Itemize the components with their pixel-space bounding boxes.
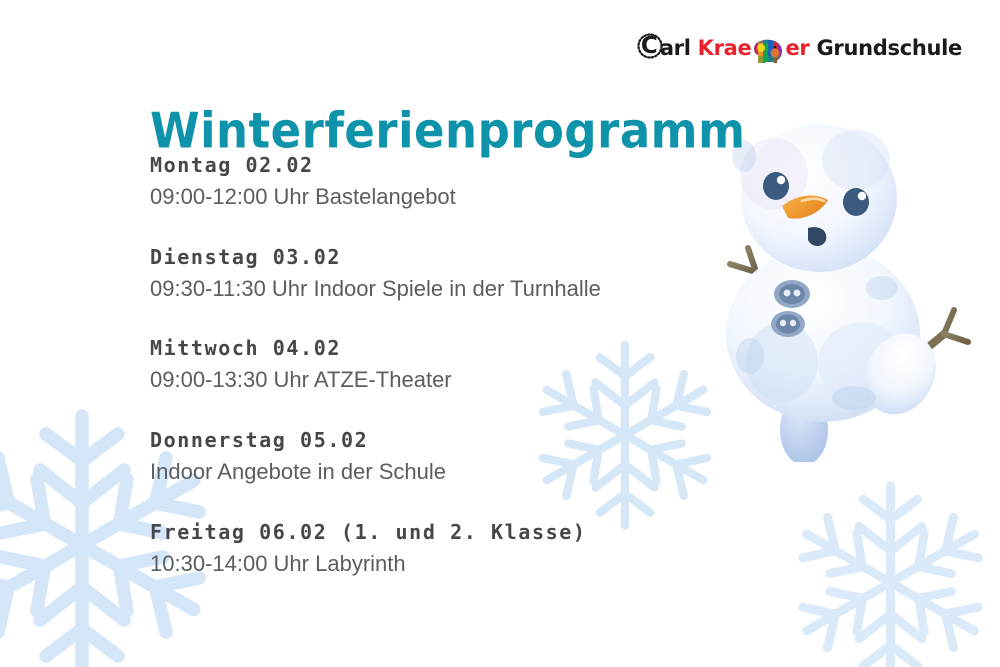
logo-initial-c: C bbox=[638, 32, 660, 64]
logo-text-grundschule: Grundschule bbox=[816, 35, 962, 61]
schedule-day-detail: 09:30-11:30 Uhr Indoor Spiele in der Tur… bbox=[150, 274, 601, 304]
logo-text-krae: Krae bbox=[698, 35, 752, 61]
snowman-illustration bbox=[686, 112, 990, 462]
poster-canvas: C arl Krae bbox=[0, 0, 1000, 667]
schedule-entry: Donnerstag 05.02 Indoor Angebote in der … bbox=[150, 427, 601, 487]
schedule-day-label: Montag 02.02 bbox=[150, 152, 601, 179]
elephant-icon bbox=[751, 36, 785, 66]
logo-letter-c: C bbox=[641, 33, 658, 59]
schedule-day-detail: 09:00-12:00 Uhr Bastelangebot bbox=[150, 182, 601, 212]
logo-text-er: er bbox=[785, 35, 809, 61]
schedule-day-detail: 10:30-14:00 Uhr Labyrinth bbox=[150, 549, 601, 579]
snowflake-icon-right bbox=[778, 470, 1000, 667]
schedule-day-detail: Indoor Angebote in der Schule bbox=[150, 457, 601, 487]
schedule-day-label: Mittwoch 04.02 bbox=[150, 335, 601, 362]
schedule-day-label: Dienstag 03.02 bbox=[150, 244, 601, 271]
schedule-list: Montag 02.02 09:00-12:00 Uhr Bastelangeb… bbox=[150, 152, 601, 578]
schedule-entry: Montag 02.02 09:00-12:00 Uhr Bastelangeb… bbox=[150, 152, 601, 212]
schedule-day-detail: 09:00-13:30 Uhr ATZE-Theater bbox=[150, 365, 601, 395]
school-logo: C arl Krae bbox=[638, 28, 962, 68]
schedule-entry: Freitag 06.02 (1. und 2. Klasse) 10:30-1… bbox=[150, 519, 601, 579]
logo-text-arl: arl bbox=[660, 35, 691, 61]
schedule-entry: Dienstag 03.02 09:30-11:30 Uhr Indoor Sp… bbox=[150, 244, 601, 304]
schedule-day-label: Donnerstag 05.02 bbox=[150, 427, 601, 454]
schedule-entry: Mittwoch 04.02 09:00-13:30 Uhr ATZE-Thea… bbox=[150, 335, 601, 395]
schedule-day-label: Freitag 06.02 (1. und 2. Klasse) bbox=[150, 519, 601, 546]
page-title: Winterferienprogramm bbox=[150, 102, 745, 159]
